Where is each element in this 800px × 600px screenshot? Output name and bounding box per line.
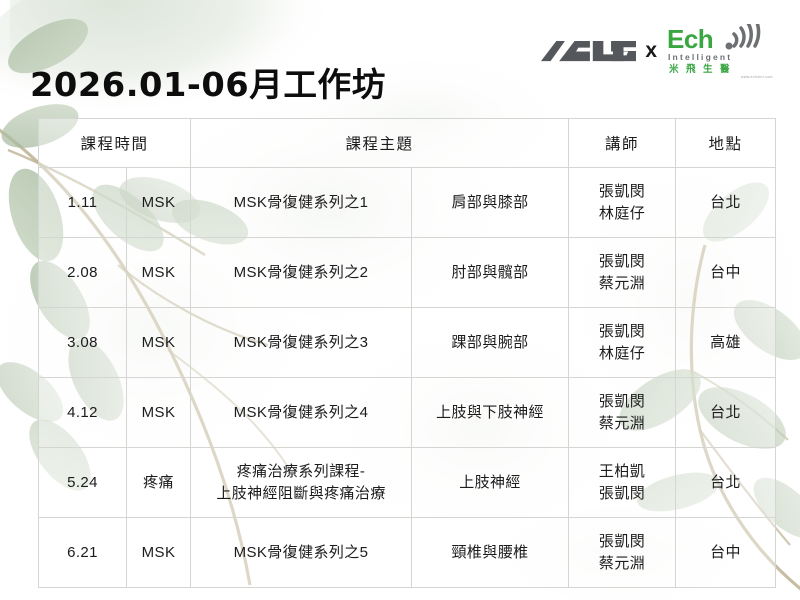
- cell-topic: MSK骨復健系列之1: [191, 168, 412, 238]
- schedule-table-wrapper: 課程時間 課程主題 講師 地點 1.11 MSK MSK骨復健系列之1 肩部與膝…: [38, 118, 775, 588]
- instructor-name-2: 張凱閔: [571, 483, 673, 505]
- cell-body-part: 頸椎與腰椎: [412, 518, 569, 588]
- table-row: 1.11 MSK MSK骨復健系列之1 肩部與膝部 張凱閔 林庭仔 台北: [39, 168, 776, 238]
- cell-instructor: 王柏凱 張凱閔: [569, 448, 676, 518]
- cell-category: MSK: [127, 238, 191, 308]
- wifi-signal-icon: [726, 24, 759, 50]
- cell-topic-line1: MSK骨復健系列之5: [193, 542, 409, 564]
- cell-topic-line1: MSK骨復健系列之2: [193, 262, 409, 284]
- svg-text:www.echoint.com: www.echoint.com: [741, 75, 773, 79]
- table-row: 4.12 MSK MSK骨復健系列之4 上肢與下肢神經 張凱閔 蔡元淵 台北: [39, 378, 776, 448]
- instructor-name-1: 王柏凱: [571, 461, 673, 483]
- cell-location: 台北: [676, 448, 776, 518]
- table-row: 2.08 MSK MSK骨復健系列之2 肘部與髖部 張凱閔 蔡元淵 台中: [39, 238, 776, 308]
- cell-topic-line2: 上肢神經阻斷與疼痛治療: [193, 483, 409, 505]
- cell-date: 5.24: [39, 448, 127, 518]
- svg-text:Intelligent: Intelligent: [668, 52, 732, 62]
- instructor-name-1: 張凱閔: [571, 321, 673, 343]
- cell-location: 高雄: [676, 308, 776, 378]
- instructor-name-1: 張凱閔: [571, 251, 673, 273]
- instructor-name-2: 蔡元淵: [571, 553, 673, 575]
- cell-location: 台中: [676, 518, 776, 588]
- cell-topic-line1: 疼痛治療系列課程-: [193, 461, 409, 483]
- cell-instructor: 張凱閔 蔡元淵: [569, 238, 676, 308]
- table-row: 5.24 疼痛 疼痛治療系列課程- 上肢神經阻斷與疼痛治療 上肢神經 王柏凱 張…: [39, 448, 776, 518]
- cell-date: 6.21: [39, 518, 127, 588]
- cell-instructor: 張凱閔 蔡元淵: [569, 378, 676, 448]
- cell-category: 疼痛: [127, 448, 191, 518]
- cell-instructor: 張凱閔 林庭仔: [569, 168, 676, 238]
- header-row: 課程時間 課程主題 講師 地點: [39, 119, 776, 168]
- header-location: 地點: [676, 119, 776, 168]
- cell-body-part: 肘部與髖部: [412, 238, 569, 308]
- cell-date: 4.12: [39, 378, 127, 448]
- cell-topic-line1: MSK骨復健系列之1: [193, 192, 409, 214]
- logo-row: x Ech Intelligent 米飛生醫 www.echoint.com: [540, 24, 782, 80]
- cell-instructor: 張凱閔 林庭仔: [569, 308, 676, 378]
- cell-topic: MSK骨復健系列之3: [191, 308, 412, 378]
- instructor-name-2: 林庭仔: [571, 343, 673, 365]
- cell-date: 3.08: [39, 308, 127, 378]
- instructor-name-1: 張凱閔: [571, 531, 673, 553]
- cell-category: MSK: [127, 518, 191, 588]
- cell-topic: MSK骨復健系列之5: [191, 518, 412, 588]
- cell-category: MSK: [127, 168, 191, 238]
- instructor-name-1: 張凱閔: [571, 181, 673, 203]
- cell-topic: MSK骨復健系列之2: [191, 238, 412, 308]
- header-instructor: 講師: [569, 119, 676, 168]
- cell-topic-line1: MSK骨復健系列之3: [193, 332, 409, 354]
- svg-text:Ech: Ech: [667, 24, 713, 54]
- cell-date: 1.11: [39, 168, 127, 238]
- header-course-time: 課程時間: [39, 119, 191, 168]
- cell-location: 台北: [676, 378, 776, 448]
- cell-date: 2.08: [39, 238, 127, 308]
- asus-logo: [540, 38, 636, 66]
- cell-body-part: 上肢與下肢神經: [412, 378, 569, 448]
- page-title: 2026.01-06月工作坊: [30, 58, 386, 106]
- instructor-name-2: 蔡元淵: [571, 273, 673, 295]
- table-body: 1.11 MSK MSK骨復健系列之1 肩部與膝部 張凱閔 林庭仔 台北 2.0…: [39, 168, 776, 588]
- header-course-topic: 課程主題: [191, 119, 569, 168]
- cell-body-part: 上肢神經: [412, 448, 569, 518]
- cell-topic-line1: MSK骨復健系列之4: [193, 402, 409, 424]
- cell-topic: MSK骨復健系列之4: [191, 378, 412, 448]
- cell-body-part: 肩部與膝部: [412, 168, 569, 238]
- svg-text:米飛生醫: 米飛生醫: [669, 63, 737, 75]
- cell-category: MSK: [127, 378, 191, 448]
- cell-topic: 疼痛治療系列課程- 上肢神經阻斷與疼痛治療: [191, 448, 412, 518]
- instructor-name-2: 林庭仔: [571, 203, 673, 225]
- table-row: 6.21 MSK MSK骨復健系列之5 頸椎與腰椎 張凱閔 蔡元淵 台中: [39, 518, 776, 588]
- workshop-schedule-table: 課程時間 課程主題 講師 地點 1.11 MSK MSK骨復健系列之1 肩部與膝…: [38, 118, 776, 588]
- instructor-name-2: 蔡元淵: [571, 413, 673, 435]
- cell-category: MSK: [127, 308, 191, 378]
- cell-instructor: 張凱閔 蔡元淵: [569, 518, 676, 588]
- table-row: 3.08 MSK MSK骨復健系列之3 踝部與腕部 張凱閔 林庭仔 高雄: [39, 308, 776, 378]
- echo-logo: Ech Intelligent 米飛生醫 www.echoint.com: [666, 24, 782, 80]
- cell-location: 台北: [676, 168, 776, 238]
- cell-body-part: 踝部與腕部: [412, 308, 569, 378]
- table-header: 課程時間 課程主題 講師 地點: [39, 119, 776, 168]
- cell-location: 台中: [676, 238, 776, 308]
- instructor-name-1: 張凱閔: [571, 391, 673, 413]
- logo-separator-x: x: [645, 40, 657, 64]
